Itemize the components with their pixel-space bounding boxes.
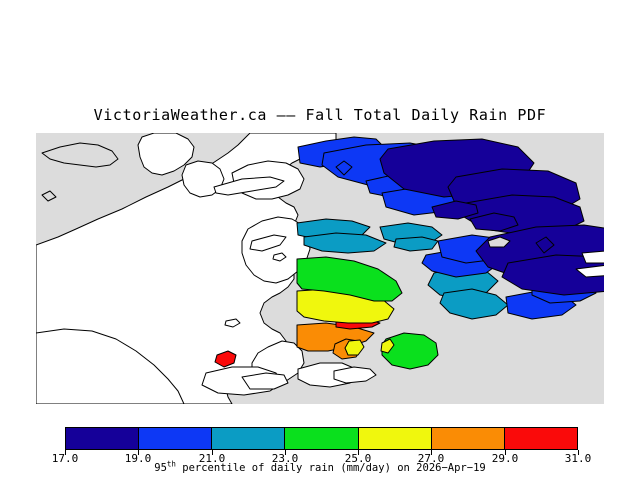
- colorbar-caption: 95th percentile of daily rain (mm/day) o…: [0, 462, 640, 474]
- page-title: VictoriaWeather.ca —— Fall Total Daily R…: [0, 106, 640, 124]
- colorbar-swatch-5[interactable]: [431, 428, 504, 449]
- data-region-teal-strip-3[interactable]: [394, 237, 438, 251]
- colorbar-swatch-4[interactable]: [358, 428, 431, 449]
- colorbar-panel[interactable]: [65, 427, 578, 450]
- colorbar-swatch-3[interactable]: [284, 428, 357, 449]
- caption-prefix: 95: [154, 462, 167, 474]
- caption-suffix: percentile of daily rain (mm/day) on 202…: [176, 462, 486, 474]
- map-panel[interactable]: [36, 133, 604, 404]
- map-canvas[interactable]: [36, 133, 604, 404]
- colorbar-swatch-6[interactable]: [504, 428, 577, 449]
- caption-superscript: th: [167, 460, 176, 469]
- weather-map-figure: VictoriaWeather.ca —— Fall Total Daily R…: [0, 0, 640, 480]
- colorbar-swatch-1[interactable]: [138, 428, 211, 449]
- colorbar-swatch-0[interactable]: [66, 428, 138, 449]
- data-island-green-mayne[interactable]: [382, 333, 438, 369]
- colorbar-swatch-2[interactable]: [211, 428, 284, 449]
- colorbar[interactable]: [65, 427, 578, 450]
